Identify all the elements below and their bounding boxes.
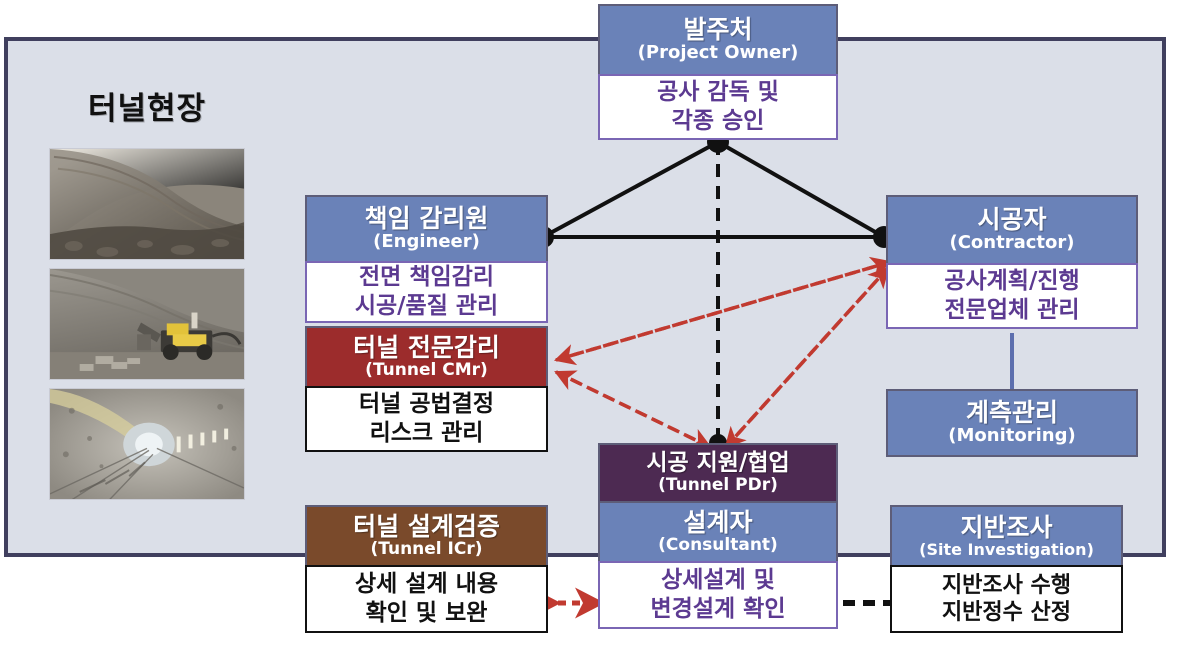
- contractor-title: 시공자: [977, 206, 1046, 233]
- tunnel-pdr-subtitle: (Tunnel PDr): [658, 476, 778, 495]
- tunnel-pdr-title: 시공 지원/협업: [646, 451, 789, 476]
- tunnel-cmr-subtitle: (Tunnel CMr): [365, 361, 488, 380]
- engineer-title: 책임 감리원: [365, 205, 489, 232]
- tunnel-pdr-header: 시공 지원/협업 (Tunnel PDr): [598, 443, 838, 503]
- consultant-body-line2: 변경설계 확인: [651, 595, 786, 624]
- node-site-investigation[interactable]: 지반조사 (Site Investigation) 지반조사 수행 지반정수 산…: [890, 505, 1123, 633]
- site-investigation-body-line2: 지반정수 산정: [942, 599, 1071, 626]
- contractor-header: 시공자 (Contractor): [886, 195, 1138, 265]
- engineer-body-line1: 전면 책임감리: [359, 263, 494, 292]
- tunnel-icr-body-line1: 상세 설계 내용: [355, 570, 498, 599]
- contractor-body-line2: 전문업체 관리: [945, 296, 1080, 325]
- site-investigation-title: 지반조사: [960, 514, 1052, 541]
- tunnel-cmr-body: 터널 공법결정 리스크 관리: [305, 386, 548, 452]
- monitoring-subtitle: (Monitoring): [948, 426, 1075, 446]
- consultant-header: 설계자 (Consultant): [598, 501, 838, 563]
- node-tunnel-pdr-stack[interactable]: 시공 지원/협업 (Tunnel PDr) 설계자 (Consultant) 상…: [598, 443, 838, 633]
- project-owner-body-line2: 각종 승인: [672, 107, 765, 136]
- diagram-canvas: 터널현장: [0, 0, 1180, 647]
- contractor-body: 공사계획/진행 전문업체 관리: [886, 263, 1138, 329]
- tunnel-icr-subtitle: (Tunnel ICr): [370, 540, 482, 559]
- consultant-title: 설계자: [683, 509, 752, 536]
- site-investigation-body-line1: 지반조사 수행: [942, 572, 1071, 599]
- node-monitoring[interactable]: 계측관리 (Monitoring): [886, 389, 1138, 457]
- consultant-subtitle: (Consultant): [658, 536, 778, 555]
- tunnel-excavation-photo-art: [50, 149, 244, 260]
- monitoring-title: 계측관리: [966, 399, 1058, 426]
- contractor-body-line1: 공사계획/진행: [944, 267, 1079, 296]
- consultant-body: 상세설계 및 변경설계 확인: [598, 561, 838, 629]
- page-title: 터널현장: [88, 83, 206, 128]
- site-investigation-header: 지반조사 (Site Investigation): [890, 505, 1123, 567]
- tunnel-icr-body: 상세 설계 내용 확인 및 보완: [305, 565, 548, 633]
- contractor-subtitle: (Contractor): [950, 233, 1075, 253]
- tunnel-icr-body-line2: 확인 및 보완: [366, 599, 488, 628]
- engineer-body: 전면 책임감리 시공/품질 관리: [305, 261, 548, 323]
- node-tunnel-icr[interactable]: 터널 설계검증 (Tunnel ICr) 상세 설계 내용 확인 및 보완: [305, 505, 548, 633]
- tunnel-lining-photo-art: [50, 389, 244, 500]
- project-owner-body-line1: 공사 감독 및: [657, 78, 779, 107]
- project-owner-title: 발주처: [683, 16, 752, 43]
- tunnel-icr-header: 터널 설계검증 (Tunnel ICr): [305, 505, 548, 567]
- engineer-body-line2: 시공/품질 관리: [355, 292, 498, 321]
- monitoring-header: 계측관리 (Monitoring): [886, 389, 1138, 457]
- tunnel-cmr-header: 터널 전문감리 (Tunnel CMr): [305, 326, 548, 388]
- engineer-subtitle: (Engineer): [373, 232, 480, 252]
- consultant-body-line1: 상세설계 및: [661, 566, 775, 595]
- tunnel-excavation-photo: [49, 148, 245, 260]
- project-owner-subtitle: (Project Owner): [638, 43, 799, 63]
- engineer-header: 책임 감리원 (Engineer): [305, 195, 548, 263]
- node-contractor[interactable]: 시공자 (Contractor) 공사계획/진행 전문업체 관리: [886, 195, 1138, 333]
- node-project-owner[interactable]: 발주처 (Project Owner) 공사 감독 및 각종 승인: [598, 4, 838, 142]
- tunnel-equipment-photo: [49, 268, 245, 380]
- node-engineer-stack[interactable]: 책임 감리원 (Engineer) 전면 책임감리 시공/품질 관리 터널 전문…: [305, 195, 548, 460]
- tunnel-cmr-title: 터널 전문감리: [353, 334, 500, 361]
- project-owner-body: 공사 감독 및 각종 승인: [598, 74, 838, 140]
- tunnel-equipment-photo-art: [50, 269, 244, 380]
- tunnel-cmr-body-line2: 리스크 관리: [370, 419, 484, 448]
- project-owner-header: 발주처 (Project Owner): [598, 4, 838, 76]
- tunnel-cmr-body-line1: 터널 공법결정: [359, 390, 494, 419]
- tunnel-icr-title: 터널 설계검증: [353, 513, 500, 540]
- site-investigation-subtitle: (Site Investigation): [919, 541, 1094, 559]
- tunnel-lining-photo: [49, 388, 245, 500]
- site-investigation-body: 지반조사 수행 지반정수 산정: [890, 565, 1123, 633]
